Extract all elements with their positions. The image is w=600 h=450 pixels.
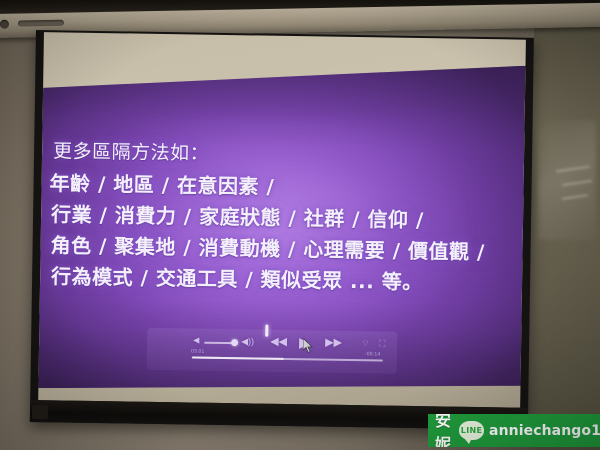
watermark-account-id: anniechango1	[489, 423, 600, 439]
elapsed-time-label: 03:01	[191, 348, 205, 354]
video-player-controls[interactable]: ◀ ◀)) ◀◀ ▶ ▶▶ ⌔ ⛶ 03:01 -00:14	[147, 328, 398, 374]
line-bubble-label: LINE	[461, 426, 482, 435]
slide-line-2: 行業 / 消費力 / 家庭狀態 / 社群 / 信仰 /	[49, 204, 519, 231]
player-button-row: ◀ ◀)) ◀◀ ▶ ▶▶ ⌔ ⛶	[147, 331, 397, 353]
housing-label-slot	[18, 20, 64, 27]
slide-text-block: 更多區隔方法如： 年齡 / 地區 / 在意因素 / 行業 / 消費力 / 家庭狀…	[48, 142, 520, 293]
seek-bar-track[interactable]	[192, 356, 383, 361]
remaining-time-label: -00:14	[365, 351, 380, 357]
rewind-button[interactable]: ◀◀	[270, 333, 287, 351]
volume-up-icon[interactable]: ◀))	[241, 332, 254, 350]
slide-line-3: 角色 / 聚集地 / 消費動機 / 心理需要 / 價值觀 /	[48, 235, 518, 262]
volume-down-icon[interactable]: ◀	[193, 332, 199, 350]
seek-bar-handle[interactable]	[265, 325, 268, 337]
fullscreen-icon[interactable]: ⛶	[379, 334, 386, 352]
housing-end-cap	[0, 20, 9, 29]
photo-scene: 更多區隔方法如： 年齡 / 地區 / 在意因素 / 行業 / 消費力 / 家庭狀…	[0, 0, 600, 450]
projection-screen: 更多區隔方法如： 年齡 / 地區 / 在意因素 / 行業 / 消費力 / 家庭狀…	[30, 30, 534, 430]
volume-slider-knob[interactable]	[231, 339, 238, 346]
fast-forward-button[interactable]: ▶▶	[325, 334, 342, 352]
projected-video-image: 更多區隔方法如： 年齡 / 地區 / 在意因素 / 行業 / 消費力 / 家庭狀…	[38, 58, 525, 396]
screen-bottom-tab	[32, 405, 48, 419]
watermark-chinese-name: 安妮	[435, 414, 452, 447]
airplay-icon[interactable]: ⌔	[361, 334, 370, 352]
slide-line-1: 年齡 / 地區 / 在意因素 /	[49, 173, 519, 200]
watermark-banner: 安妮 LINE anniechango1	[428, 414, 600, 447]
seek-bar-progress	[192, 356, 284, 359]
line-bubble-icon: LINE	[459, 421, 484, 440]
